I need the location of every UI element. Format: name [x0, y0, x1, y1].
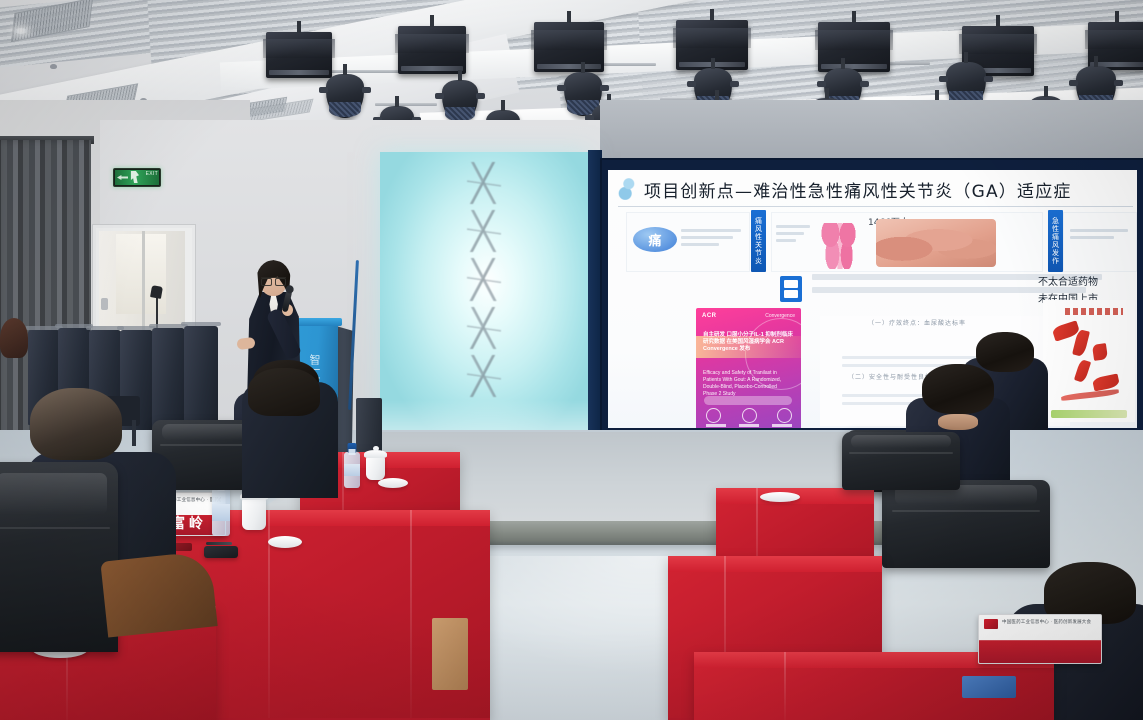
leather-conference-chair [0, 462, 118, 652]
organization-logo [984, 619, 998, 629]
slide-side-tab-left-label: 痛风性关节炎 [755, 217, 763, 265]
stage-equipment-box [356, 398, 382, 452]
water-bottle [212, 488, 230, 536]
conference-hall-photo: EXIT 项目创新点—难治性急性痛风性关节炎（GA）适应症 痛 [0, 0, 1143, 720]
lidded-tea-mug [242, 498, 266, 530]
poster-icon-row [706, 408, 792, 423]
attendee-head [248, 368, 320, 416]
eyeglasses [261, 277, 286, 284]
attendee-neck [938, 414, 978, 430]
slide-title: 项目创新点—难治性急性痛风性关节炎（GA）适应症 [644, 177, 1072, 202]
lighting-truss [375, 103, 437, 106]
stage-backdrop-screen [380, 152, 588, 440]
gouty-hand-photo [876, 219, 996, 267]
leather-conference-chair [882, 480, 1050, 568]
presentation-logo-icon [618, 178, 636, 200]
slide-panel-right [1063, 212, 1137, 272]
pen [206, 542, 232, 545]
pain-badge-label: 痛 [648, 230, 661, 249]
exit-sign: EXIT [113, 168, 161, 187]
slide-body-text [681, 229, 743, 250]
recessed-downlight [14, 28, 28, 34]
stage-spotlight [818, 22, 890, 72]
note-icon [780, 276, 802, 302]
napkin [760, 492, 800, 502]
stage-spotlight [398, 26, 466, 74]
conference-poster: ACR Convergence 自主研发 口服小分子IL-1 抑制剂临床研究数据… [696, 308, 801, 428]
calligraphy-glyph [467, 258, 501, 300]
table-nameplate: 中国医药工业信息中心 · 医药创新发展大会 [978, 614, 1102, 664]
pain-badge: 痛 [633, 227, 677, 252]
door-blind [116, 234, 166, 314]
stage-spotlight [326, 74, 364, 118]
calligraphy-glyph [467, 162, 501, 204]
gout-joint-illustration [816, 223, 864, 269]
title-divider [618, 206, 1133, 207]
saucer [268, 536, 302, 548]
wooden-box [432, 618, 468, 690]
backdrop-calligraphy [463, 162, 505, 397]
slide-side-tab-left: 痛风性关节炎 [751, 210, 766, 272]
attendee-head [922, 364, 994, 414]
stage-spotlight [534, 22, 604, 72]
poster-brand: ACR [702, 313, 717, 319]
slide-side-tab-right: 急性痛风发作 [1048, 210, 1063, 272]
lidded-tea-mug [366, 456, 385, 480]
exit-sign-label: EXIT [146, 172, 158, 177]
calligraphy-glyph [467, 307, 501, 349]
calligraphy-glyph [467, 210, 501, 252]
door-handle[interactable] [101, 298, 108, 310]
stage-spotlight [266, 32, 332, 78]
chair-leg [132, 420, 136, 446]
chart-caption-bottom: （二）安全性与耐受性良好 [848, 372, 932, 381]
saucer [378, 478, 408, 488]
microphone-stand-head [150, 285, 163, 299]
slide-body-text [776, 225, 812, 246]
seated-attendee [0, 318, 28, 358]
poster-title: 自主研发 口服小分子IL-1 抑制剂临床研究数据 在美国风湿病学会 ACR Co… [703, 332, 793, 353]
leather-conference-chair [842, 432, 960, 490]
poster-subtitle: Efficacy and Safety of Tranilast in Pati… [703, 370, 791, 398]
slide-surface: 项目创新点—难治性急性痛风性关节炎（GA）适应症 痛 痛风性关节炎 [608, 170, 1137, 428]
slide-body-text [1070, 229, 1130, 243]
stacked-folding-chairs [184, 326, 218, 430]
lighting-truss [330, 70, 402, 73]
slide-panel-epidemiology: 1466万人 [771, 212, 1043, 272]
slide-panel-pain: 痛 [626, 212, 750, 272]
chair-armrest [100, 550, 217, 637]
stacked-folding-chairs [152, 328, 185, 430]
tablet-device [204, 546, 238, 558]
water-bottle [344, 452, 360, 488]
slide-side-tab-right-label: 急性痛风发作 [1052, 217, 1060, 265]
stage-spotlight [442, 80, 478, 122]
chart-caption-top: （一）疗效终点：血尿酸达标率 [868, 318, 966, 327]
screen-divider [588, 150, 602, 450]
led-presentation-screen: 项目创新点—难治性急性痛风性关节炎（GA）适应症 痛 痛风性关节炎 [602, 160, 1143, 438]
slide-header: 项目创新点—难治性急性痛风性关节炎（GA）适应症 [608, 172, 1137, 206]
nameplate-organization: 中国医药工业信息中心 · 医药创新发展大会 [1002, 619, 1097, 624]
decorative-calligraphy [1043, 300, 1135, 422]
calligraphy-glyph [467, 355, 501, 397]
slide-emphasis-1: 不太合适药物 [1038, 273, 1098, 288]
attendee-head [976, 332, 1034, 372]
poster-brand-secondary: Convergence [765, 313, 795, 319]
blue-card [962, 676, 1016, 698]
sprinkler-head [50, 64, 57, 69]
attendee-head [30, 388, 122, 460]
